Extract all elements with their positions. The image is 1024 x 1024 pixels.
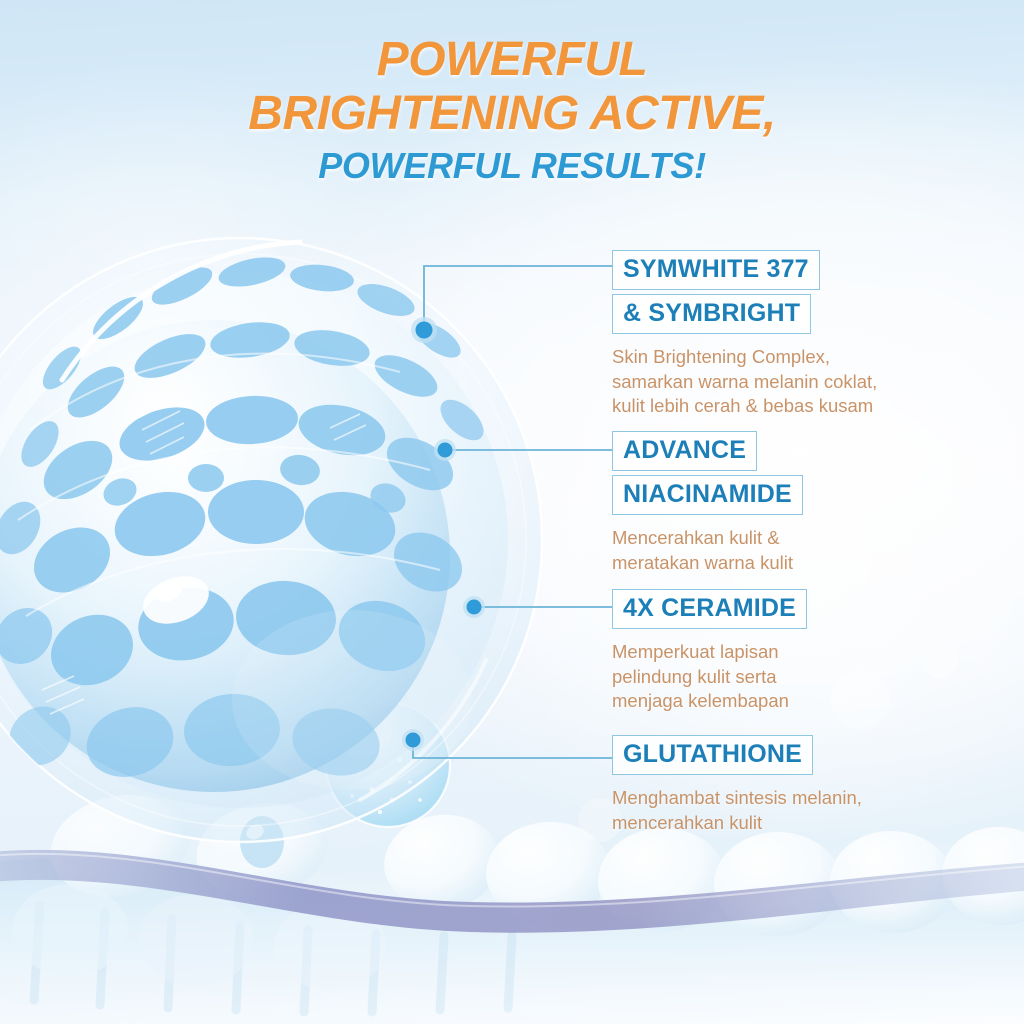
leader-glutathione [413,740,612,758]
callout-title-symwhite-1: SYMWHITE 377 [612,250,820,290]
callout-body-glutathione: Menghambat sintesis melanin, mencerahkan… [612,786,1012,835]
callout-title-symwhite-2: & SYMBRIGHT [612,294,811,334]
callout-body-ceramide: Memperkuat lapisan pelindung kulit serta… [612,640,1012,714]
callout-niacinamide: ADVANCE NIACINAMIDE Mencerahkan kulit & … [612,431,1012,575]
headline-block: POWERFUL BRIGHTENING ACTIVE, POWERFUL RE… [0,36,1024,184]
callout-body-symwhite: Skin Brightening Complex, samarkan warna… [612,345,1012,419]
callout-glutathione: GLUTATHIONE Menghambat sintesis melanin,… [612,735,1012,835]
callout-symwhite: SYMWHITE 377 & SYMBRIGHT Skin Brightenin… [612,250,1012,419]
callout-title-ceramide-1: 4X CERAMIDE [612,589,807,629]
callout-ceramide: 4X CERAMIDE Memperkuat lapisan pelindung… [612,589,1012,714]
callout-title-glutathione-1: GLUTATHIONE [612,735,813,775]
leader-symwhite [424,266,612,330]
sparkling-droplet [240,703,450,868]
leader-dots [402,317,485,751]
headline-line-1: POWERFUL [0,36,1024,84]
headline-line-2: BRIGHTENING ACTIVE, [0,90,1024,138]
perforated-spherical-capsule [0,238,542,842]
infographic-poster: POWERFUL BRIGHTENING ACTIVE, POWERFUL RE… [0,0,1024,1024]
callout-body-niacinamide: Mencerahkan kulit & meratakan warna kuli… [612,526,1012,575]
callout-title-niacinamide-2: NIACINAMIDE [612,475,803,515]
capsule-pores [0,252,491,787]
callout-title-niacinamide-1: ADVANCE [612,431,757,471]
headline-line-3: POWERFUL RESULTS! [0,148,1024,184]
